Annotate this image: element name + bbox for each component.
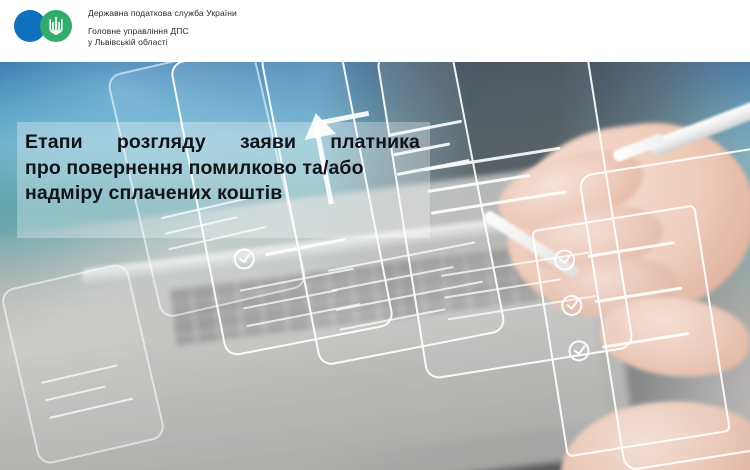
title-word-3: заяви <box>240 130 296 156</box>
org-name-regional-line-2: у Львівській області <box>88 37 237 48</box>
title-line-1: Етапи розгляду заяви платника <box>25 130 420 156</box>
site-header: Державна податкова служба України Головн… <box>0 0 750 62</box>
title-word-4: платника <box>330 130 420 156</box>
title-line-2: про повернення помилково та/або <box>25 156 422 182</box>
ukrainian-trident-icon <box>40 10 72 42</box>
org-name-regional: Головне управління ДПС у Львівській обла… <box>88 26 237 47</box>
header-org-text: Державна податкова служба України Головн… <box>88 8 237 47</box>
dps-logo <box>14 10 80 42</box>
title-overlay-box: Етапи розгляду заяви платника про поверн… <box>17 122 430 238</box>
title-word-1: Етапи <box>25 130 83 156</box>
org-name-regional-line-1: Головне управління ДПС <box>88 26 237 37</box>
banner-page: Державна податкова служба України Головн… <box>0 0 750 470</box>
title-line-3: надміру сплачених коштів <box>25 181 422 207</box>
title-word-2: розгляду <box>117 130 206 156</box>
banner-image: Етапи розгляду заяви платника про поверн… <box>0 62 750 470</box>
title-text-block: Етапи розгляду заяви платника про поверн… <box>25 130 422 207</box>
org-name-national: Державна податкова служба України <box>88 8 237 19</box>
